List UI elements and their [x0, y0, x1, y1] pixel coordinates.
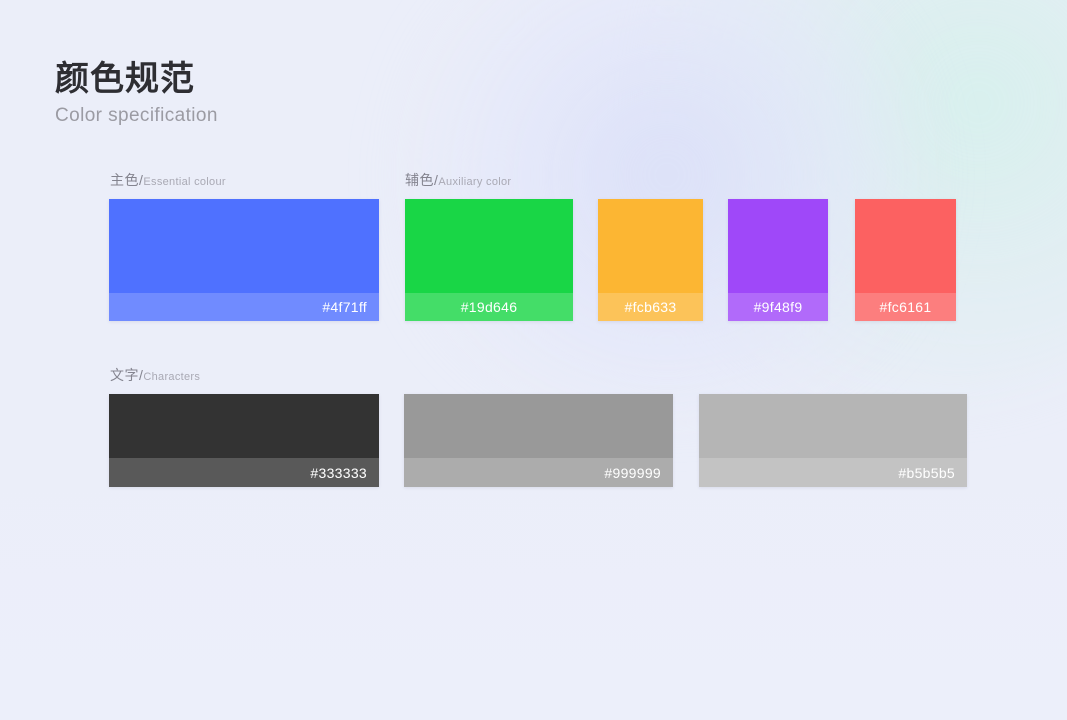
- color-swatch-success-green[interactable]: #19d646: [405, 199, 573, 321]
- section-label-characters-en: Characters: [143, 371, 200, 383]
- color-swatch-text-tertiary[interactable]: #b5b5b5: [699, 394, 967, 487]
- color-swatch-text-secondary[interactable]: #999999: [404, 394, 673, 487]
- section-label-auxiliary-en: Auxiliary color: [438, 176, 511, 188]
- color-swatch-accent-purple[interactable]: #9f48f9: [728, 199, 828, 321]
- section-label-essential-cn: 主色/: [110, 172, 143, 188]
- color-swatch-footer: #fc6161: [855, 293, 956, 321]
- section-label-essential-en: Essential colour: [143, 176, 225, 188]
- section-label-essential: 主色/Essential colour: [110, 171, 226, 191]
- color-swatch-hex: #4f71ff: [109, 299, 367, 315]
- color-swatch-hex: #b5b5b5: [699, 465, 955, 481]
- color-swatch-primary-blue[interactable]: #4f71ff: [109, 199, 379, 321]
- section-label-auxiliary-cn: 辅色/: [405, 172, 438, 188]
- color-swatch-hex: #9f48f9: [728, 299, 828, 315]
- color-swatch-hex: #999999: [404, 465, 661, 481]
- color-swatch-danger-red[interactable]: #fc6161: [855, 199, 956, 321]
- page-subtitle: Color specification: [55, 103, 218, 129]
- color-swatch-footer: #333333: [109, 458, 379, 487]
- page-header: 颜色规范 Color specification: [55, 57, 218, 129]
- color-swatch-hex: #333333: [109, 465, 367, 481]
- color-swatch-footer: #b5b5b5: [699, 458, 967, 487]
- color-swatch-hex: #fc6161: [855, 299, 956, 315]
- color-swatch-footer: #fcb633: [598, 293, 703, 321]
- section-label-characters: 文字/Characters: [110, 366, 200, 386]
- section-label-auxiliary: 辅色/Auxiliary color: [405, 171, 511, 191]
- color-swatch-hex: #fcb633: [598, 299, 703, 315]
- color-swatch-footer: #4f71ff: [109, 293, 379, 321]
- color-swatch-footer: #9f48f9: [728, 293, 828, 321]
- color-swatch-footer: #19d646: [405, 293, 573, 321]
- color-swatch-warning-orange[interactable]: #fcb633: [598, 199, 703, 321]
- section-label-characters-cn: 文字/: [110, 367, 143, 383]
- page-title: 颜色规范: [55, 57, 218, 101]
- color-swatch-text-primary[interactable]: #333333: [109, 394, 379, 487]
- color-specification-page: 颜色规范 Color specification 主色/Essential co…: [0, 0, 1067, 600]
- color-swatch-hex: #19d646: [405, 299, 573, 315]
- color-swatch-footer: #999999: [404, 458, 673, 487]
